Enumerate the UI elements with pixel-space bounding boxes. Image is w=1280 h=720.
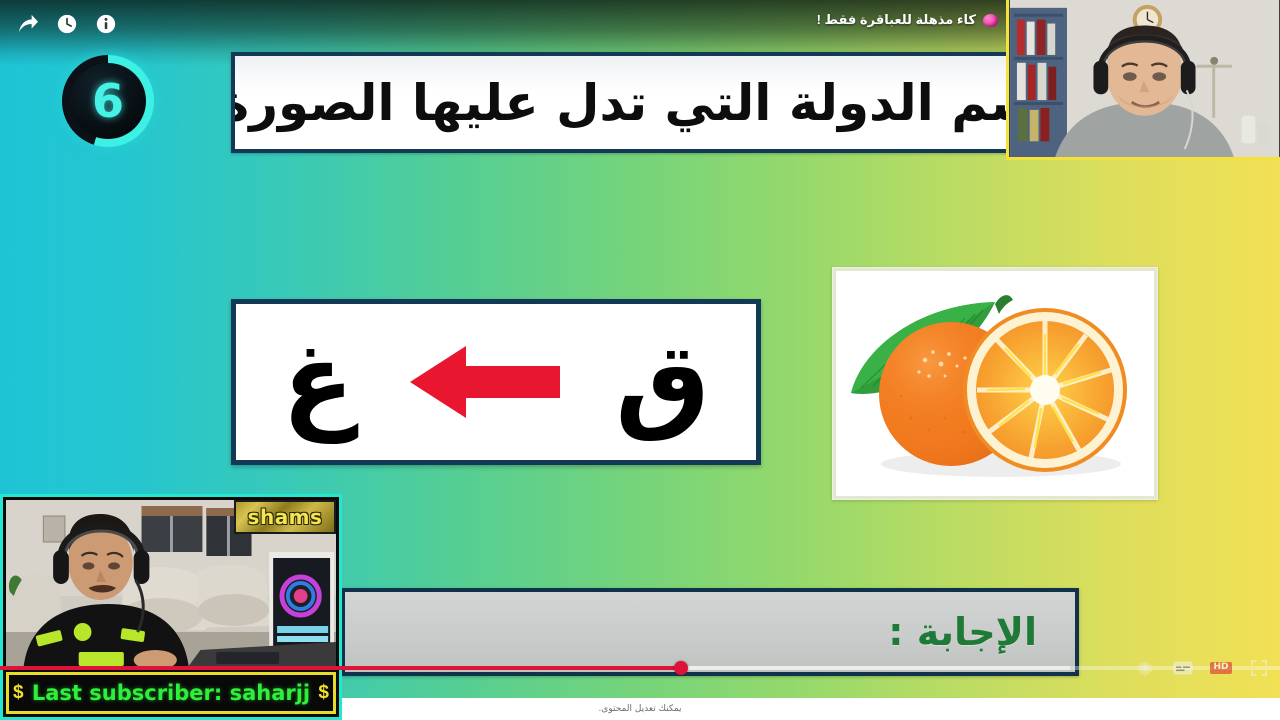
- countdown-timer: 6: [62, 55, 154, 147]
- progress-played: [0, 666, 681, 670]
- coin-left-icon: $: [13, 682, 24, 704]
- video-player-page: 6 اسم الدولة التي تدل عليها الصورة ؟ غ ق: [0, 0, 1280, 720]
- progress-bar[interactable]: [0, 660, 1280, 676]
- last-subscriber-bar: $ Last subscriber: saharjj $: [6, 672, 336, 714]
- streamer-name-text: shams: [248, 505, 323, 529]
- streamer-facecam-top[interactable]: [1006, 0, 1280, 160]
- brain-emoji: [983, 14, 998, 27]
- watch-later-icon[interactable]: [53, 10, 81, 38]
- last-subscriber-text: Last subscriber: saharjj: [32, 681, 310, 705]
- letter-right: ق: [615, 329, 710, 435]
- settings-icon[interactable]: [1134, 660, 1156, 676]
- question-text: اسم الدولة التي تدل عليها الصورة ؟: [231, 78, 1027, 128]
- share-icon[interactable]: [14, 10, 42, 38]
- letter-left: غ: [282, 329, 354, 435]
- letters-box: غ ق: [231, 299, 761, 465]
- orange-illustration: [833, 268, 1157, 499]
- streamer-name-badge: shams: [234, 500, 336, 534]
- info-icon[interactable]: [92, 10, 120, 38]
- video-title[interactable]: كاء مذهلة للعباقرة فقط !: [817, 12, 998, 28]
- player-top-icons: [14, 10, 120, 38]
- left-arrow-icon: [410, 346, 560, 418]
- timer-value: 6: [92, 78, 124, 124]
- subtitles-icon[interactable]: [1172, 660, 1194, 676]
- question-picture: [832, 267, 1158, 500]
- fullscreen-icon[interactable]: [1248, 660, 1270, 676]
- quality-badge[interactable]: HD: [1210, 660, 1232, 676]
- footer-note: يمكنك تعديل المحتوى.: [598, 704, 681, 714]
- player-right-controls: HD: [1134, 660, 1270, 676]
- progress-scrubber[interactable]: [674, 661, 688, 675]
- answer-label: الإجابة :: [888, 613, 1037, 651]
- streamer-facecam-bottom[interactable]: shams $ Last subscriber: saharjj $: [0, 494, 342, 720]
- question-banner: اسم الدولة التي تدل عليها الصورة ؟: [231, 52, 1027, 153]
- video-title-text: كاء مذهلة للعباقرة فقط !: [817, 12, 976, 28]
- coin-right-icon: $: [318, 682, 329, 704]
